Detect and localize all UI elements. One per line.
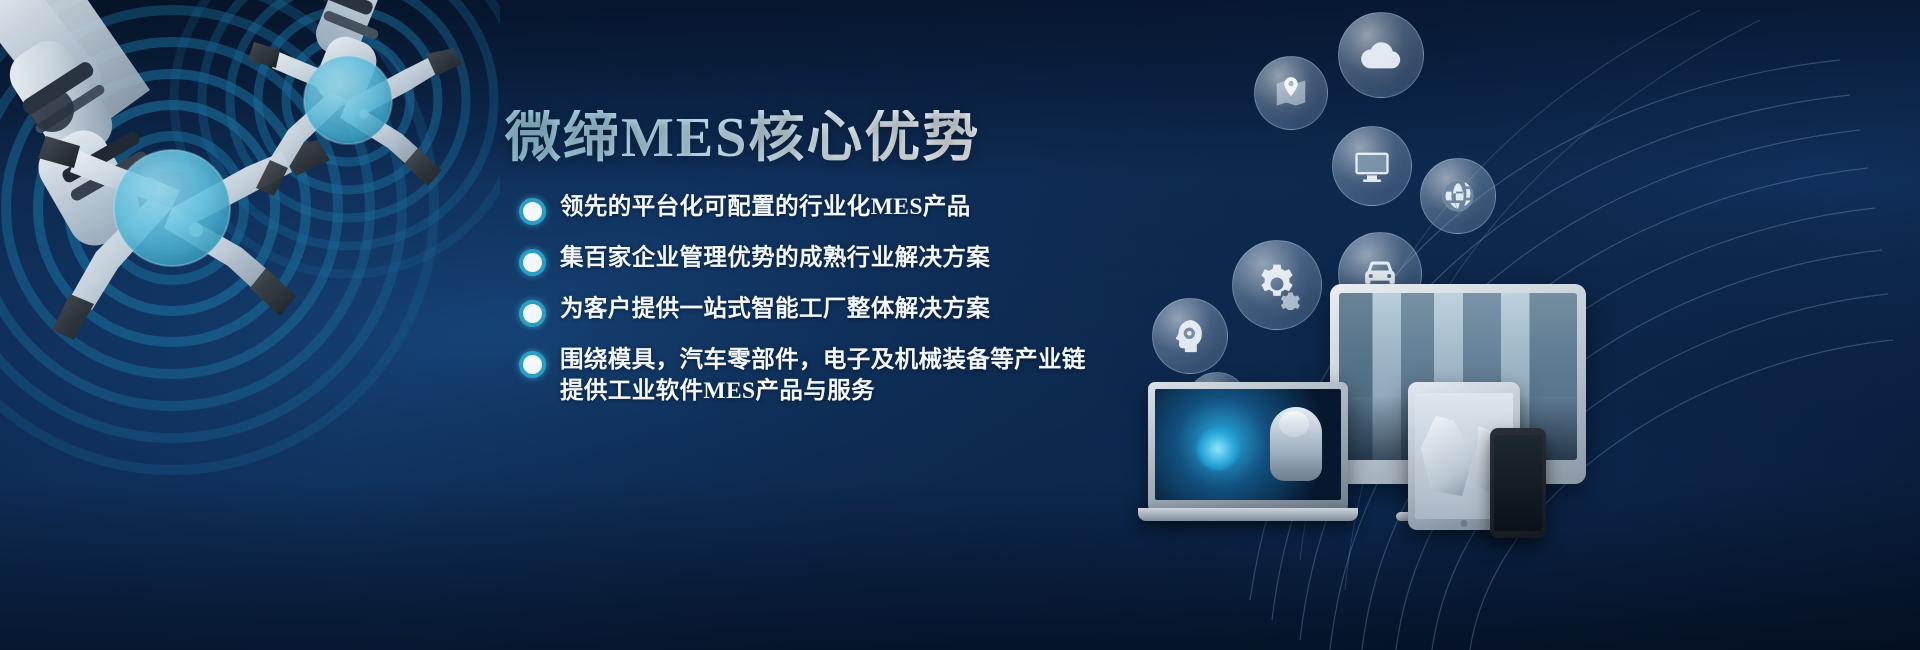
gears-icon-badge[interactable] <box>1232 240 1322 330</box>
list-item-label: 围绕模具，汽车零部件，电子及机械装备等产业链 提供工业软件MES产品与服务 <box>560 345 1086 407</box>
page-title: 微缔MES核心优势 <box>505 110 1125 166</box>
list-item[interactable]: 围绕模具，汽车零部件，电子及机械装备等产业链 提供工业软件MES产品与服务 <box>505 345 1125 407</box>
list-item-label: 为客户提供一站式智能工厂整体解决方案 <box>560 294 990 325</box>
laptop-base <box>1138 508 1358 521</box>
bullet-dot-icon <box>519 198 546 225</box>
location-icon-badge[interactable] <box>1254 56 1328 130</box>
bullet-dot-icon <box>519 351 546 378</box>
location-map-icon <box>1272 74 1310 112</box>
laptop-screen-image <box>1155 389 1341 500</box>
laptop <box>1148 382 1348 512</box>
globe-icon-badge[interactable] <box>1420 158 1496 234</box>
smartphone <box>1490 428 1546 538</box>
list-item[interactable]: 为客户提供一站式智能工厂整体解决方案 <box>505 294 1125 327</box>
globe-icon <box>1438 176 1478 216</box>
cloud-icon-badge[interactable] <box>1338 12 1424 98</box>
list-item[interactable]: 领先的平台化可配置的行业化MES产品 <box>505 192 1125 225</box>
cloud-icon <box>1358 32 1404 78</box>
bullet-list: 领先的平台化可配置的行业化MES产品 集百家企业管理优势的成熟行业解决方案 为客… <box>505 192 1125 407</box>
ai-head-icon <box>1170 316 1210 356</box>
phone-screen <box>1494 435 1542 531</box>
list-item-label: 集百家企业管理优势的成熟行业解决方案 <box>560 243 990 274</box>
hero-banner: 微缔MES核心优势 领先的平台化可配置的行业化MES产品 集百家企业管理优势的成… <box>0 0 1920 650</box>
banner-content: 微缔MES核心优势 领先的平台化可配置的行业化MES产品 集百家企业管理优势的成… <box>505 110 1125 425</box>
list-item[interactable]: 集百家企业管理优势的成熟行业解决方案 <box>505 243 1125 276</box>
bullet-dot-icon <box>519 300 546 327</box>
monitor-icon <box>1352 146 1392 186</box>
bullet-dot-icon <box>519 249 546 276</box>
ai-head-icon-badge[interactable] <box>1152 298 1228 374</box>
monitor-icon-badge[interactable] <box>1332 126 1412 206</box>
gears-icon <box>1252 260 1302 310</box>
list-item-label: 领先的平台化可配置的行业化MES产品 <box>560 192 971 223</box>
